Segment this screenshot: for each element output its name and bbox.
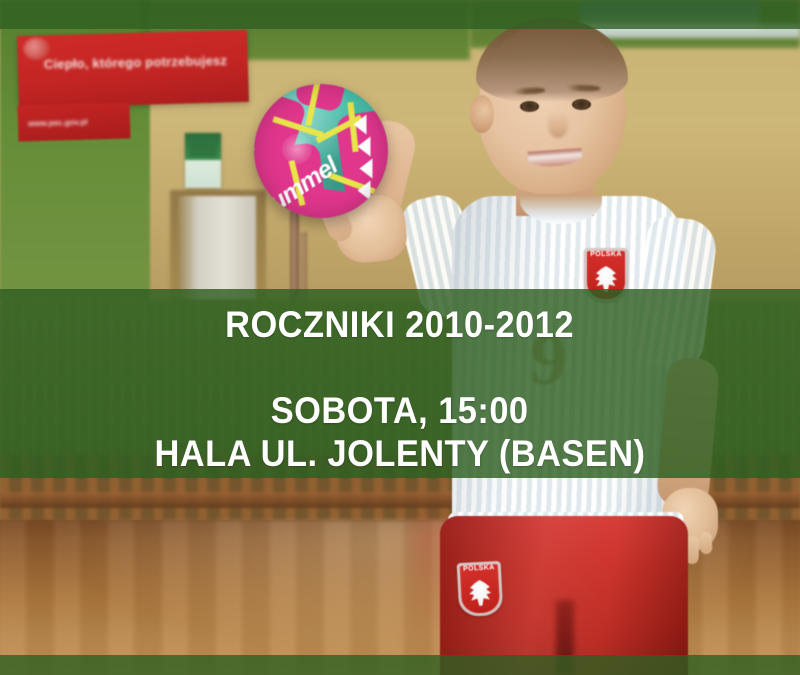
boy-hair	[476, 18, 628, 102]
polska-crest-shorts: POLSKA	[457, 561, 504, 617]
boy-eye-right	[572, 99, 591, 110]
ball-shading	[254, 84, 388, 218]
poster-day-time: SOBOTA, 15:00	[271, 392, 529, 429]
boy-ear	[470, 95, 494, 133]
poster-headline: ROCZNIKI 2010-2012	[226, 306, 575, 343]
poster: Ciepło, którego potrzebujesz www.pec.gov…	[0, 0, 800, 675]
poster-venue: HALA UL. JOLENTY (BASEN)	[154, 435, 645, 472]
boy-right-finger	[700, 532, 713, 554]
overlay-band-top	[0, 0, 800, 29]
boy-eye-left	[520, 101, 539, 112]
crest-label: POLSKA	[584, 251, 628, 258]
poster-copy: ROCZNIKI 2010-2012 SOBOTA, 15:00 HALA UL…	[0, 289, 800, 478]
overlay-band-bottom	[0, 655, 800, 675]
boy-nose	[548, 112, 568, 138]
handball: hummel	[254, 84, 388, 218]
